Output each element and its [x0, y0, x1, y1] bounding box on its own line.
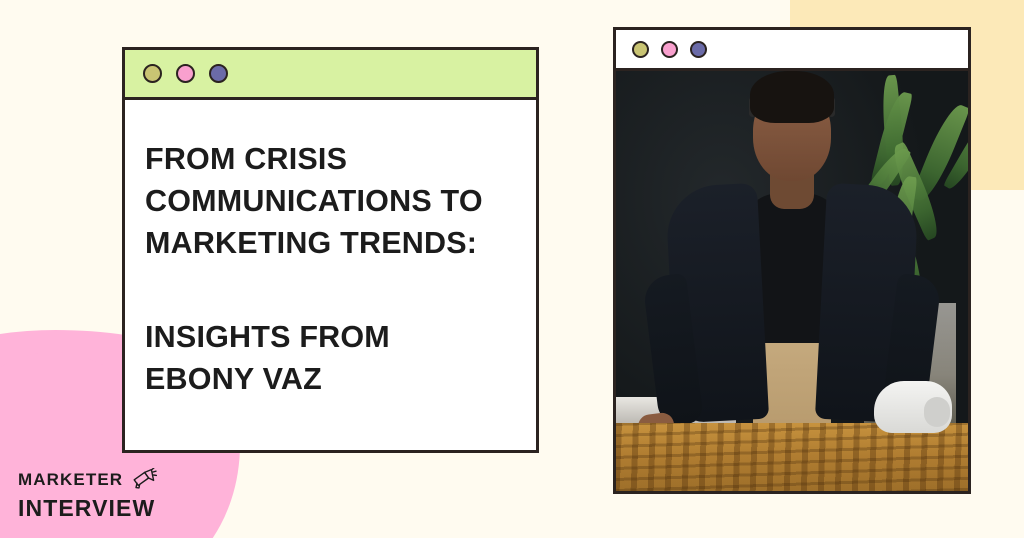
right-window-traffic-lights: [616, 41, 707, 58]
right-window-titlebar: [616, 30, 968, 71]
khaki-dot[interactable]: [143, 64, 162, 83]
photo-person: [667, 129, 917, 429]
title-card-body: FROM CRISIS COMMUNICATIONS TO MARKETING …: [125, 100, 536, 400]
purple-dot[interactable]: [690, 41, 707, 58]
purple-dot[interactable]: [209, 64, 228, 83]
left-window-traffic-lights: [125, 64, 228, 83]
pink-dot[interactable]: [661, 41, 678, 58]
page-title: FROM CRISIS COMMUNICATIONS TO MARKETING …: [145, 138, 536, 264]
guest-portrait-photo: [616, 71, 968, 491]
photo-wooden-table: [616, 423, 968, 491]
photo-vr-headset: [874, 381, 952, 433]
title-browser-window: FROM CRISIS COMMUNICATIONS TO MARKETING …: [122, 47, 539, 453]
headline-line-1: FROM CRISIS: [145, 142, 347, 176]
photo-browser-window: [613, 27, 971, 494]
logo-line-1: MARKETER: [18, 471, 123, 488]
logo-line-2: INTERVIEW: [18, 497, 188, 520]
pink-dot[interactable]: [176, 64, 195, 83]
left-window-titlebar: [125, 50, 536, 100]
subhead-line-2: EBONY VAZ: [145, 362, 322, 396]
megaphone-icon: [131, 468, 157, 490]
photo-hair: [750, 71, 834, 123]
khaki-dot[interactable]: [632, 41, 649, 58]
slide-canvas: FROM CRISIS COMMUNICATIONS TO MARKETING …: [0, 0, 1024, 538]
page-subtitle: INSIGHTS FROM EBONY VAZ: [145, 316, 536, 400]
headline-line-2: COMMUNICATIONS TO: [145, 184, 483, 218]
subhead-line-1: INSIGHTS FROM: [145, 320, 390, 354]
logo-top-row: MARKETER: [18, 468, 188, 490]
brand-logo: MARKETER INTERVIEW: [18, 468, 188, 520]
headline-line-3: MARKETING TRENDS:: [145, 226, 477, 260]
